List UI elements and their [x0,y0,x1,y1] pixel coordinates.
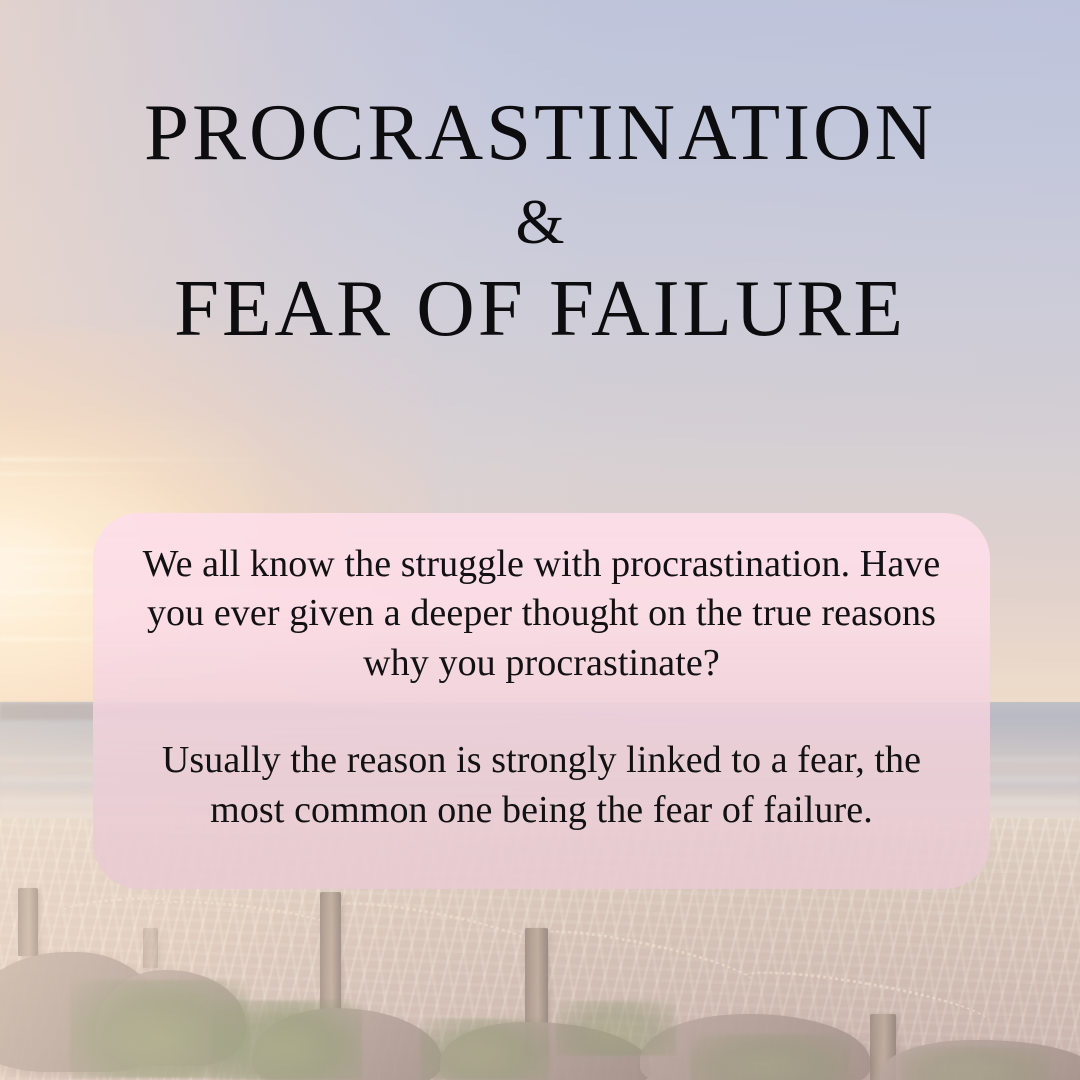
social-post-canvas: PROCRASTINATION & FEAR OF FAILURE We all… [0,0,1080,1080]
body-paragraph-2: Usually the reason is strongly linked to… [122,736,962,835]
body-text-card: We all know the struggle with procrastin… [93,513,990,889]
headline-ampersand: & [0,191,1080,254]
vegetation [420,1018,550,1080]
vegetation [212,1000,362,1080]
lens-flare-streak [0,458,300,461]
body-paragraph-1: We all know the struggle with procrastin… [122,540,962,688]
vegetation [900,1046,1050,1080]
body-text-container: We all know the struggle with procrastin… [93,513,990,889]
fence-post [143,928,158,968]
lens-flare-streak [0,473,230,475]
page-title: PROCRASTINATION & FEAR OF FAILURE [0,92,1080,349]
headline-line-1: PROCRASTINATION [0,92,1080,173]
fence-post [18,888,38,956]
vegetation [690,1034,850,1080]
headline-line-2: FEAR OF FAILURE [0,268,1080,349]
vegetation [556,1000,676,1056]
fence-post [320,892,341,1010]
